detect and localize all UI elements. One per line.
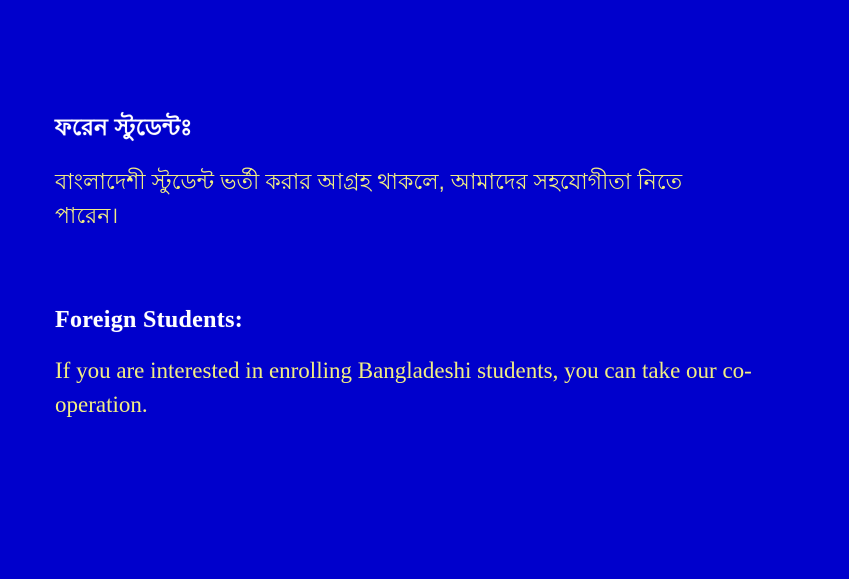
english-body: If you are interested in enrolling Bangl…: [55, 354, 827, 421]
bengali-body-line-2: পারেন।: [55, 199, 837, 233]
section-spacer: [55, 233, 837, 305]
slide-content-area: ফরেন স্টুডেন্টঃ বাংলাদেশী স্টুডেন্ট ভর্ত…: [55, 112, 837, 421]
english-heading: Foreign Students:: [55, 305, 837, 336]
bengali-heading: ফরেন স্টুডেন্টঃ: [55, 112, 837, 143]
slide-canvas: ফরেন স্টুডেন্টঃ বাংলাদেশী স্টুডেন্ট ভর্ত…: [0, 0, 849, 579]
bengali-body-line-1: বাংলাদেশী স্টুডেন্ট ভর্তী করার আগ্রহ থাক…: [55, 165, 837, 199]
